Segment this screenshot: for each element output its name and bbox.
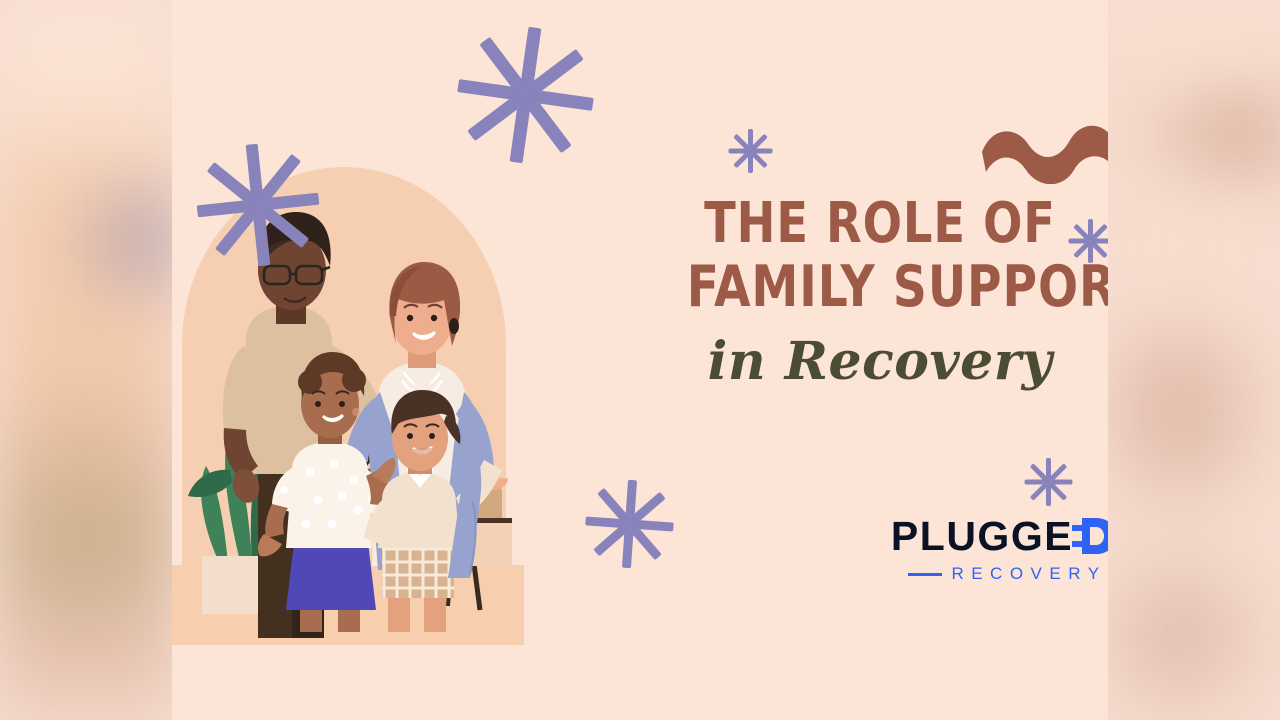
headline-line-2: FAMILY SUPPORT <box>687 259 1073 315</box>
headline-script-line: in Recovery <box>670 336 1090 388</box>
headline-line-1: THE ROLE OF <box>687 196 1073 251</box>
logo-subtitle-row: RECOVERY <box>866 564 1108 584</box>
plug-d-icon <box>1072 514 1108 558</box>
blurred-right-letterbox <box>1108 0 1280 720</box>
headline-block: THE ROLE OF FAMILY SUPPORT in Recovery <box>670 196 1090 388</box>
poster-canvas: THE ROLE OF FAMILY SUPPORT in Recovery P… <box>172 0 1108 720</box>
logo-rule-left <box>908 573 942 576</box>
logo-subtitle: RECOVERY <box>951 564 1106 584</box>
poster-stage: THE ROLE OF FAMILY SUPPORT in Recovery P… <box>0 0 1280 720</box>
blurred-left-letterbox <box>0 0 172 720</box>
logo-wordmark: PLUGGE IN <box>866 514 1108 558</box>
logo-text-before: PLUGGE <box>891 516 1073 557</box>
pluggedin-recovery-logo[interactable]: PLUGGE IN RECOVERY <box>866 514 1108 584</box>
wavy-squiggle-shape <box>978 118 1108 184</box>
